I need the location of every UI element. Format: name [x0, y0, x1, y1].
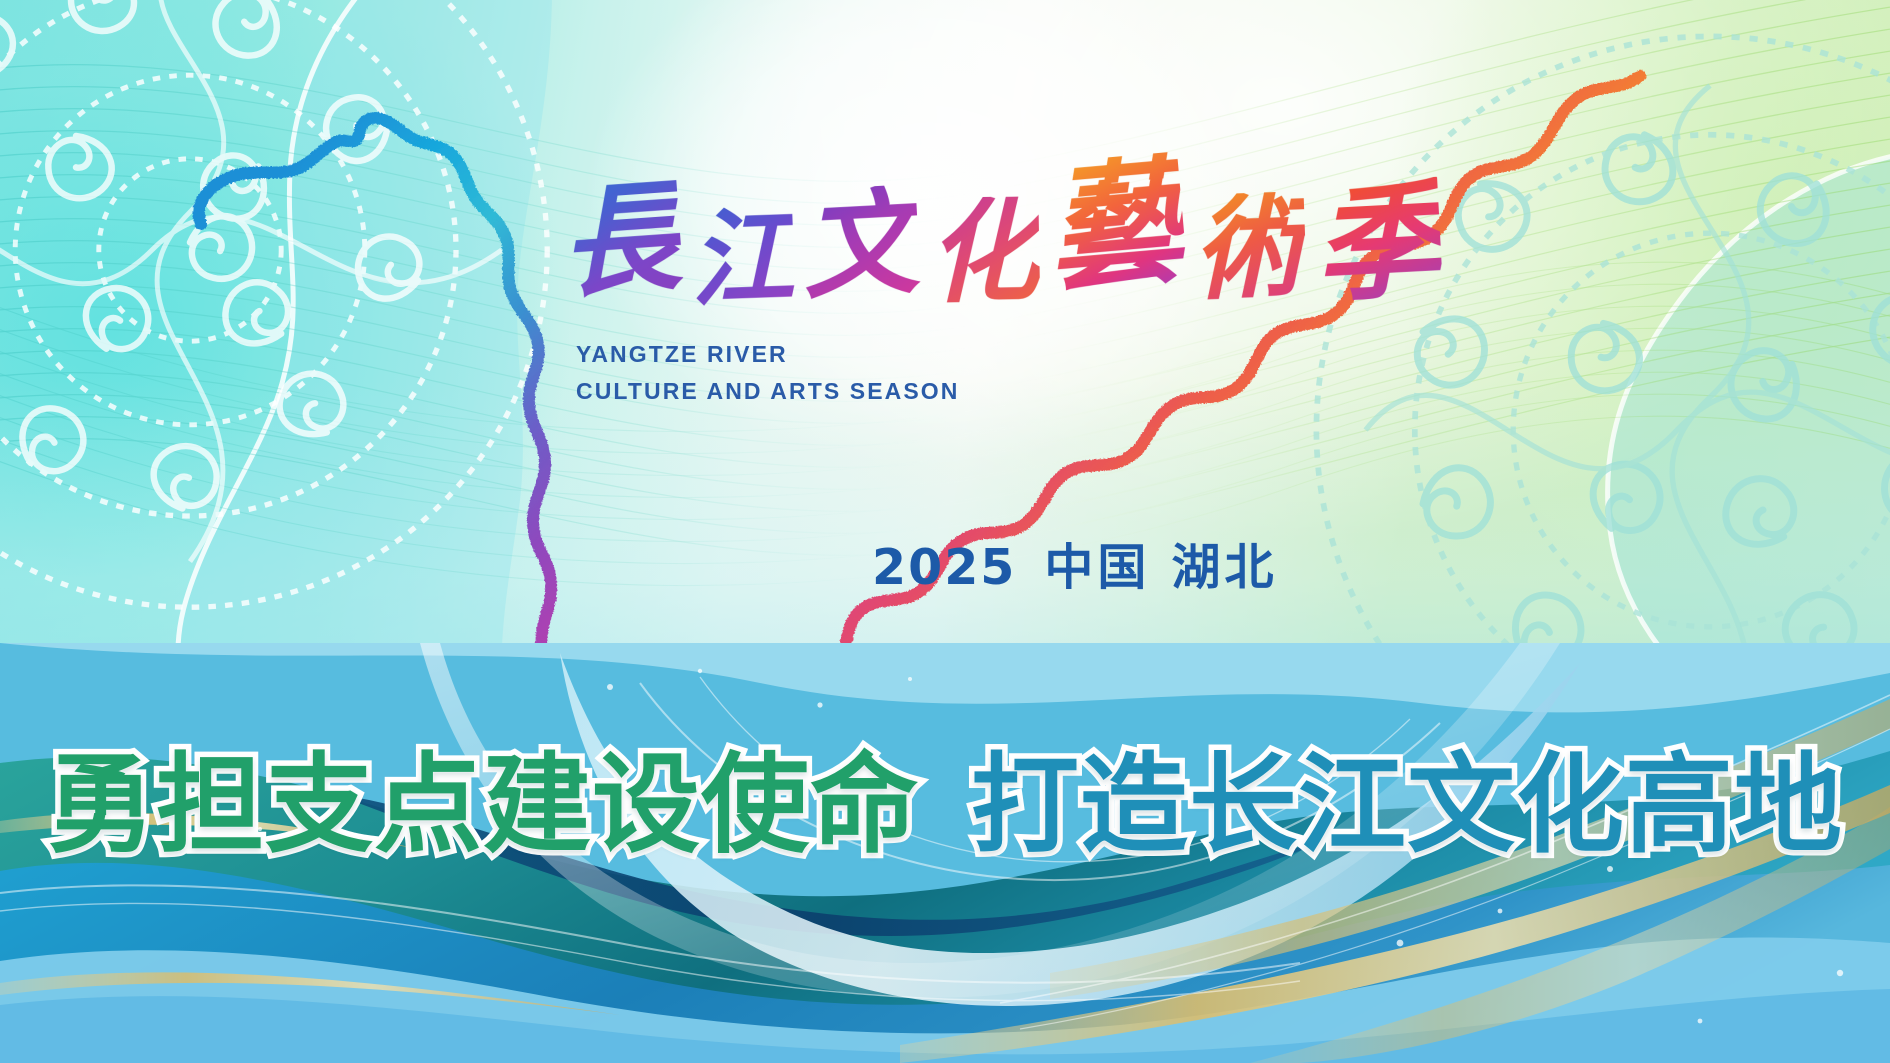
english-title-line1: YANGTZE RIVER: [576, 336, 960, 373]
english-title-line2: CULTURE AND ARTS SEASON: [576, 373, 960, 410]
year-location-line: 2025中国 湖北: [872, 528, 1277, 599]
event-location: 中国 湖北: [1044, 539, 1277, 596]
river-wave-band: [0, 643, 1890, 1063]
event-year: 2025: [872, 539, 1016, 596]
english-title: YANGTZE RIVER CULTURE AND ARTS SEASON: [576, 336, 960, 411]
poster-canvas: 長 江 文 化 藝 術 季 YANGTZE RIVER CULTURE AND …: [0, 0, 1890, 1063]
